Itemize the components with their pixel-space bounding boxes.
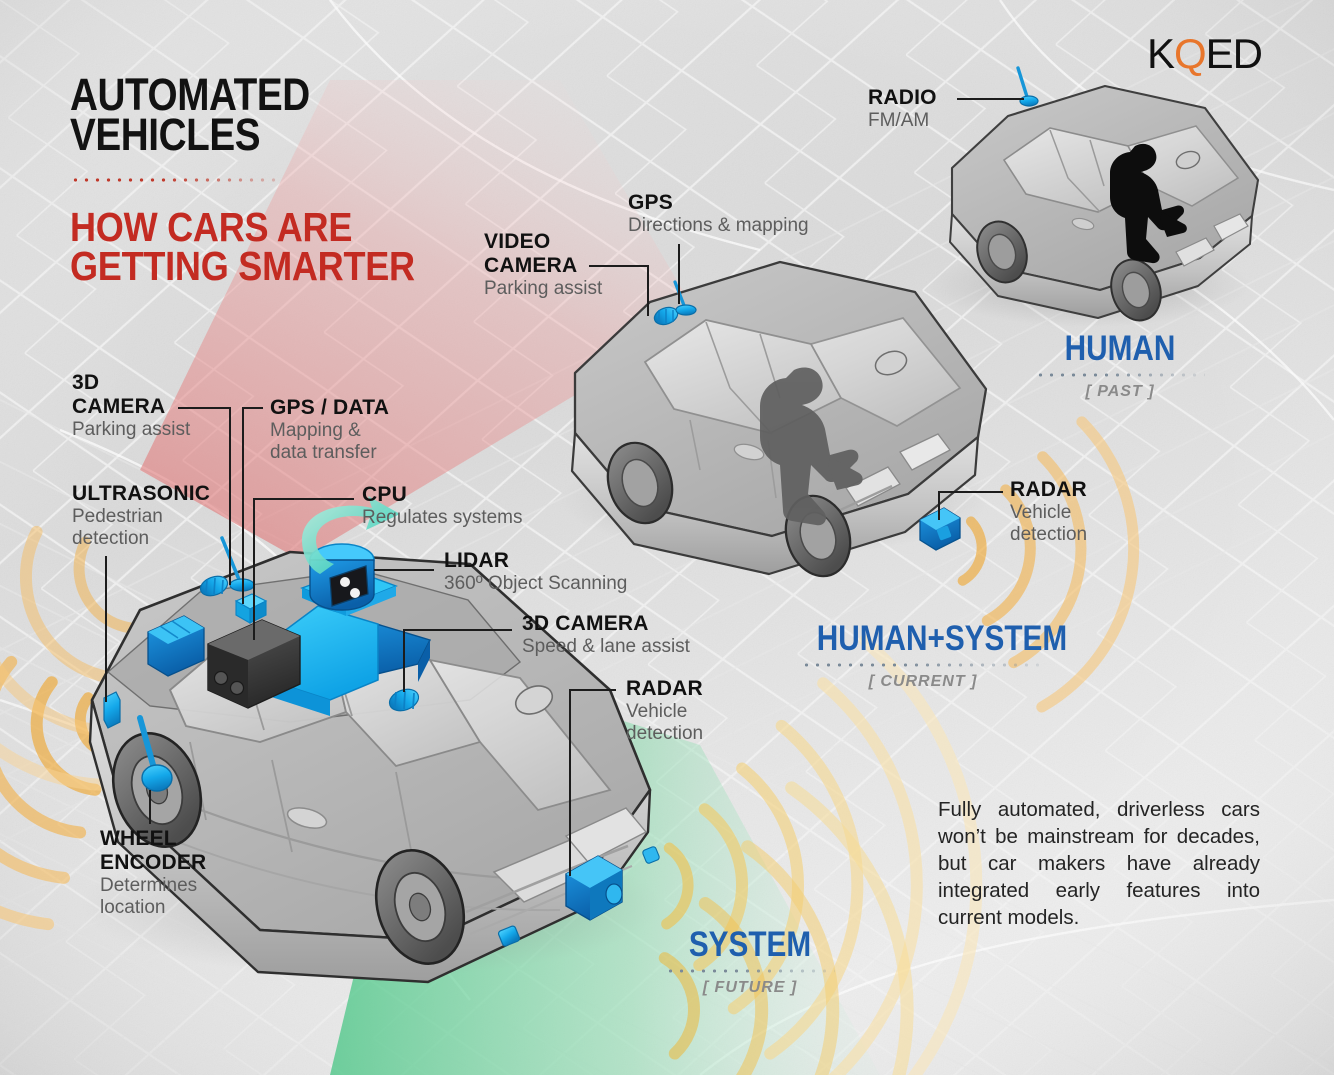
callout-cpu-title: CPU <box>362 483 523 507</box>
callout-gps-top-title: GPS <box>628 191 809 215</box>
stage-system-era: [ FUTURE ] <box>660 979 840 997</box>
kqed-logo: KQED <box>1147 33 1262 75</box>
callout-3d-camera-main: 3D CAMERA Speed & lane assist <box>522 612 690 658</box>
callout-ultrasonic: ULTRASONIC Pedestrian detection <box>72 482 210 550</box>
callout-ultrasonic-sub: Pedestrian detection <box>72 506 210 550</box>
callout-radar-middle-title: RADAR <box>1010 478 1087 502</box>
callout-gps-top: GPS Directions & mapping <box>628 191 809 237</box>
infographic-canvas: AUTOMATED VEHICLES HOW CARS ARE GETTING … <box>0 0 1334 1075</box>
stage-human-era: [ PAST ] <box>1030 383 1210 401</box>
callout-lidar: LIDAR 360º Object Scanning <box>444 549 627 595</box>
callout-video-camera-title: VIDEO CAMERA <box>484 230 602 278</box>
callout-wheel-encoder-sub: Determines location <box>100 875 206 919</box>
callout-gps-data: GPS / DATA Mapping & data transfer <box>270 396 389 464</box>
callout-radar-main-title: RADAR <box>626 677 703 701</box>
callout-radar-main: RADAR Vehicle detection <box>626 677 703 745</box>
callout-gps-top-sub: Directions & mapping <box>628 215 809 237</box>
callout-gps-data-title: GPS / DATA <box>270 396 389 420</box>
page-title: AUTOMATED VEHICLES <box>70 75 310 155</box>
stage-human-system-era: [ CURRENT ] <box>798 673 1048 691</box>
callout-lidar-sub: 360º Object Scanning <box>444 573 627 595</box>
callout-radio: RADIO FM/AM <box>868 86 937 132</box>
callout-radar-middle: RADAR Vehicle detection <box>1010 478 1087 546</box>
callout-3d-camera-left: 3D CAMERA Parking assist <box>72 371 190 441</box>
stage-human-dots <box>1035 373 1205 377</box>
callout-radio-sub: FM/AM <box>868 110 937 132</box>
callout-radio-title: RADIO <box>868 86 937 110</box>
car-human-past <box>930 68 1258 327</box>
callout-wheel-encoder-title: WHEEL ENCODER <box>100 827 206 875</box>
callout-cpu-sub: Regulates systems <box>362 507 523 529</box>
callout-radar-middle-sub: Vehicle detection <box>1010 502 1087 546</box>
callout-wheel-encoder: WHEEL ENCODER Determines location <box>100 827 206 919</box>
stage-system-name: SYSTEM <box>674 928 827 962</box>
callout-gps-data-sub: Mapping & data transfer <box>270 420 389 464</box>
callout-lidar-title: LIDAR <box>444 549 627 573</box>
callout-3d-camera-left-sub: Parking assist <box>72 419 190 441</box>
stage-human-system-dots <box>801 663 1045 667</box>
stage-human-name: HUMAN <box>1044 332 1197 366</box>
callout-3d-camera-main-title: 3D CAMERA <box>522 612 690 636</box>
page-subtitle: HOW CARS ARE GETTING SMARTER <box>70 208 415 286</box>
callout-video-camera-sub: Parking assist <box>484 278 602 300</box>
logo-letter-q: Q <box>1174 30 1206 77</box>
stage-human-system: HUMAN+SYSTEM [ CURRENT ] <box>798 622 1048 691</box>
stage-system: SYSTEM [ FUTURE ] <box>660 928 840 997</box>
stage-human-system-name: HUMAN+SYSTEM <box>817 622 1030 656</box>
callout-video-camera: VIDEO CAMERA Parking assist <box>484 230 602 300</box>
title-divider <box>70 178 275 182</box>
callout-cpu: CPU Regulates systems <box>362 483 523 529</box>
logo-letter-k: K <box>1147 30 1174 77</box>
logo-letters-ed: ED <box>1206 30 1262 77</box>
callout-3d-camera-left-title: 3D CAMERA <box>72 371 190 419</box>
summary-paragraph: Fully automated, driverless cars won’t b… <box>938 796 1260 931</box>
stage-human: HUMAN [ PAST ] <box>1030 332 1210 401</box>
callout-3d-camera-main-sub: Speed & lane assist <box>522 636 690 658</box>
radio-antenna-icon <box>1018 68 1038 106</box>
callout-radar-main-sub: Vehicle detection <box>626 701 703 745</box>
callout-ultrasonic-title: ULTRASONIC <box>72 482 210 506</box>
summary-text: Fully automated, driverless cars won’t b… <box>938 796 1260 931</box>
stage-system-dots <box>665 969 835 973</box>
